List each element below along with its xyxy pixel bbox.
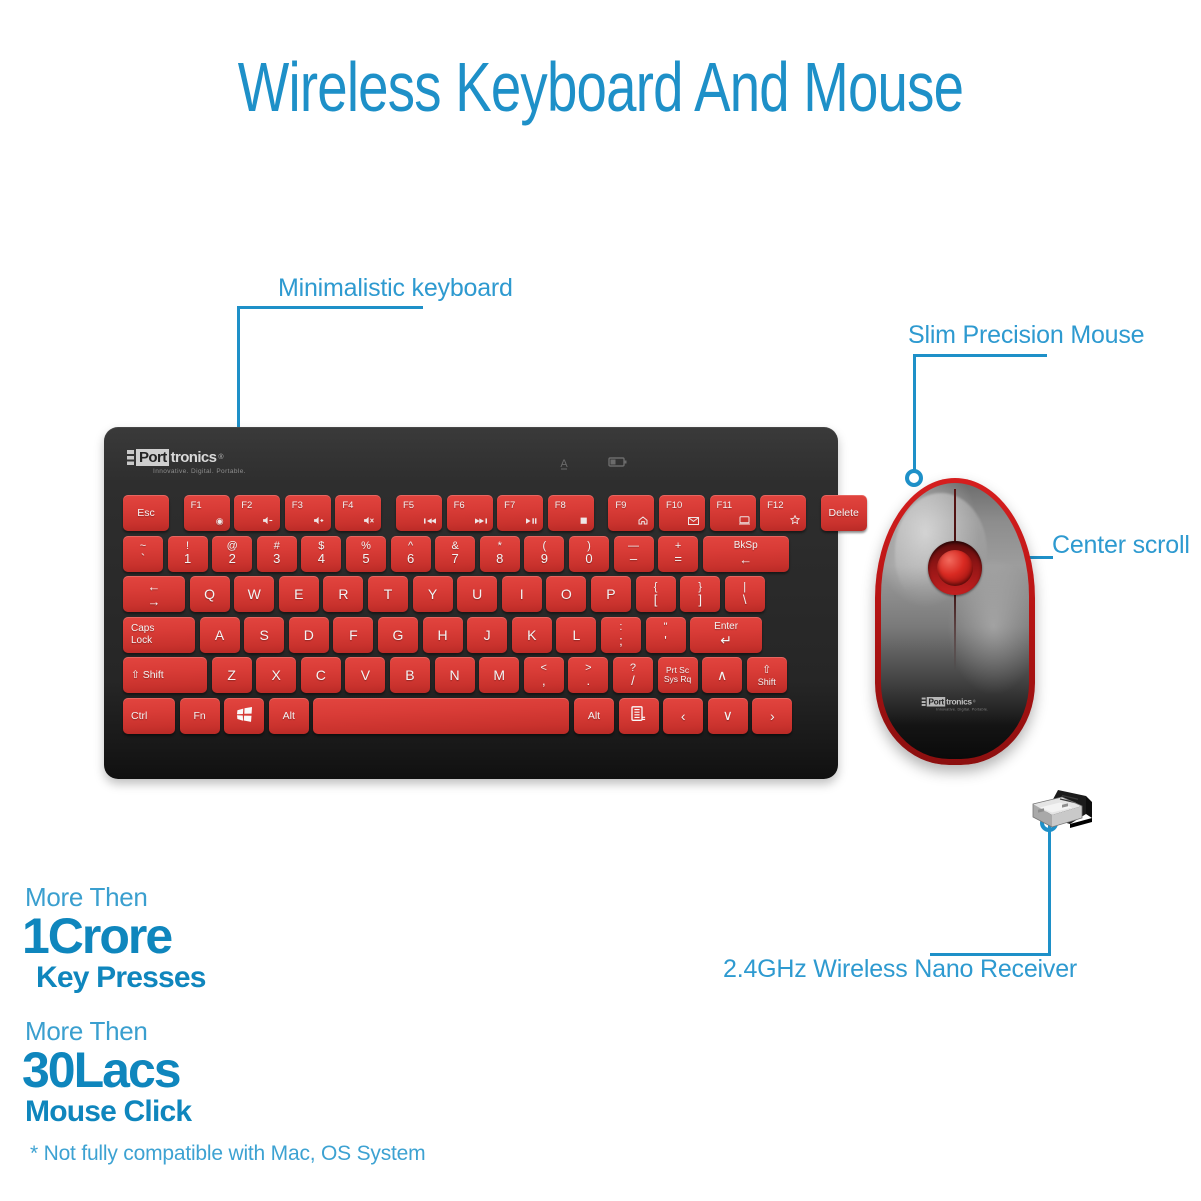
keyboard-row-home: CapsLock A S D F G H J K L :; "' Enter↵	[123, 617, 819, 653]
key-label-lower: 0	[585, 552, 592, 567]
key-label: Ctrl	[131, 710, 147, 722]
key-slash[interactable]: ?/	[613, 657, 653, 693]
key-label: P	[606, 586, 615, 602]
registered-mark-icon: ®	[218, 454, 223, 461]
callout-label-slim-precision-mouse: Slim Precision Mouse	[908, 321, 1144, 350]
key-label-lower: 6	[407, 552, 414, 567]
key-label: N	[450, 667, 460, 683]
key-u[interactable]: U	[457, 576, 497, 612]
key-n[interactable]: N	[435, 657, 475, 693]
key-arrow-up[interactable]: ∧	[702, 657, 742, 693]
key-k[interactable]: K	[512, 617, 552, 653]
computer-icon	[739, 516, 750, 527]
shift-arrow-icon: ⇧	[762, 664, 771, 677]
key-g[interactable]: G	[378, 617, 418, 653]
key-label-lower: \	[743, 593, 747, 608]
arrow-left-icon: ‹	[681, 708, 686, 724]
key-label: Esc	[137, 507, 155, 519]
key-label: A	[215, 627, 224, 643]
key-label-lower: .	[587, 674, 591, 689]
key-f8[interactable]: F8	[548, 495, 594, 531]
callout-label-center-scroll: Center scroll	[1052, 531, 1190, 560]
compatibility-footnote: * Not fully compatible with Mac, OS Syst…	[30, 1142, 425, 1166]
key-arrow-right[interactable]: ›	[752, 698, 792, 734]
key-5[interactable]: %5	[346, 536, 386, 572]
key-label-lower: '	[664, 634, 666, 649]
key-r[interactable]: R	[323, 576, 363, 612]
key-label: Z	[227, 667, 236, 683]
key-left-shift[interactable]: ⇧ Shift	[123, 657, 207, 693]
key-arrow-left[interactable]: ‹	[663, 698, 703, 734]
infographic-canvas: Wireless Keyboard And Mouse Minimalistic…	[0, 0, 1201, 1201]
key-i[interactable]: I	[502, 576, 542, 612]
key-e[interactable]: E	[279, 576, 319, 612]
svg-text:A: A	[560, 458, 568, 470]
key-f9[interactable]: F9	[608, 495, 654, 531]
favorites-star-icon	[790, 515, 800, 527]
key-0[interactable]: )0	[569, 536, 609, 572]
key-label: S	[260, 627, 269, 643]
brand-name-rest: tronics	[946, 698, 972, 706]
key-label: Fn	[193, 710, 205, 722]
mouse-brand-logo: Port tronics ® Innovative. Digital. Port…	[922, 697, 989, 712]
key-f2[interactable]: F2	[234, 495, 280, 531]
key-label: ⇧ Shift	[131, 669, 164, 681]
key-label: R	[338, 586, 348, 602]
key-bracket-left[interactable]: {[	[636, 576, 676, 612]
home-icon	[638, 516, 648, 527]
key-label: O	[561, 586, 572, 602]
arrow-right-icon: ›	[770, 708, 775, 724]
key-label: F12	[767, 500, 783, 511]
key-label: Shift	[758, 677, 776, 687]
key-label: Delete	[829, 507, 859, 519]
key-f1[interactable]: F1 ◉	[184, 495, 230, 531]
key-y[interactable]: Y	[413, 576, 453, 612]
key-label: V	[361, 667, 370, 683]
keyboard-row-zxcv: ⇧ Shift Z X C V B N M <, >. ?/ Prt ScSys…	[123, 657, 819, 693]
key-label: F7	[504, 500, 515, 511]
arrow-down-icon: ∨	[723, 707, 733, 724]
mouse-scroll-wheel[interactable]	[937, 550, 973, 586]
keyboard-brand-logo: Port tronics ® Innovative. Digital. Port…	[127, 449, 246, 475]
key-label: T	[384, 586, 393, 602]
key-w[interactable]: W	[234, 576, 274, 612]
key-label-lower: =	[674, 552, 682, 567]
key-label: I	[520, 586, 524, 602]
key-context-menu[interactable]	[619, 698, 659, 734]
key-label: C	[316, 667, 326, 683]
key-windows[interactable]	[224, 698, 264, 734]
key-tab[interactable]: ←→	[123, 576, 185, 612]
key-6[interactable]: ^6	[391, 536, 431, 572]
key-f3[interactable]: F3	[285, 495, 331, 531]
key-label: BkSp	[734, 540, 758, 552]
key-label: K	[527, 627, 536, 643]
mouse-product-image: Port tronics ® Innovative. Digital. Port…	[875, 478, 1035, 765]
key-h[interactable]: H	[423, 617, 463, 653]
page-title: Wireless Keyboard And Mouse	[132, 52, 1069, 122]
key-label-upper: "	[664, 621, 668, 633]
key-label-lower: –	[630, 552, 637, 567]
key-label-lower: 8	[496, 552, 503, 567]
brand-bars-icon	[127, 450, 134, 465]
key-bracket-right[interactable]: }]	[680, 576, 720, 612]
key-f[interactable]: F	[333, 617, 373, 653]
arrow-up-icon: ∧	[717, 667, 727, 684]
registered-mark-icon: ®	[973, 700, 976, 704]
key-8[interactable]: *8	[480, 536, 520, 572]
key-label: E	[294, 586, 303, 602]
stat-caption: Key Presses	[36, 962, 206, 994]
tab-left-arrow-icon: ←	[148, 579, 161, 594]
key-label: Enter	[714, 621, 738, 633]
key-label: F5	[403, 500, 414, 511]
enter-arrow-icon: ↵	[720, 632, 732, 648]
key-period[interactable]: >.	[568, 657, 608, 693]
key-label: Alt	[283, 710, 295, 722]
battery-led-icon	[608, 455, 624, 471]
key-label: X	[272, 667, 281, 683]
key-comma[interactable]: <,	[524, 657, 564, 693]
stat-caption: Mouse Click	[25, 1096, 191, 1128]
key-label-lower: 7	[452, 552, 459, 567]
next-track-icon	[475, 517, 487, 527]
key-label-lower: `	[141, 552, 145, 567]
key-label: F11	[717, 500, 733, 511]
callout-label-minimalistic-keyboard: Minimalistic keyboard	[278, 274, 513, 303]
tab-right-arrow-icon: →	[148, 594, 161, 609]
key-label-lower: /	[631, 674, 635, 689]
brand-name-rest: tronics	[171, 450, 217, 465]
key-semicolon[interactable]: :;	[601, 617, 641, 653]
callout-label-nano-receiver: 2.4GHz Wireless Nano Receiver	[723, 955, 1077, 984]
key-v[interactable]: V	[345, 657, 385, 693]
keyboard-row-qwerty: ←→ Q W E R T Y U I O P {[ }] |\	[123, 576, 819, 612]
stat-prefix: More Then	[25, 884, 206, 910]
key-label: Q	[204, 586, 215, 602]
key-f11[interactable]: F11	[710, 495, 756, 531]
stop-icon	[580, 517, 588, 527]
key-z[interactable]: Z	[212, 657, 252, 693]
key-label: G	[393, 627, 404, 643]
key-b[interactable]: B	[390, 657, 430, 693]
windows-icon	[236, 707, 253, 725]
key-label-lower: [	[654, 593, 658, 608]
key-minus[interactable]: —–	[614, 536, 654, 572]
menu-icon	[631, 706, 646, 725]
key-s[interactable]: S	[244, 617, 284, 653]
key-q[interactable]: Q	[190, 576, 230, 612]
caps-lock-led-icon: A	[556, 455, 572, 471]
key-label-lower: ;	[619, 634, 623, 649]
stat-prefix: More Then	[25, 1018, 191, 1044]
play-pause-icon	[526, 517, 537, 527]
key-label-lower: ,	[542, 674, 546, 689]
key-2[interactable]: @2	[212, 536, 252, 572]
key-alt-right[interactable]: Alt	[574, 698, 614, 734]
leader-line-mouse-horizontal	[913, 354, 1047, 357]
key-f7[interactable]: F7	[497, 495, 543, 531]
key-label: F2	[241, 500, 252, 511]
keyboard-row-numbers: ~` !1 @2 #3 $4 %5 ^6 &7 *8 (9 )0 —– += B…	[123, 536, 819, 572]
key-caps-lock[interactable]: CapsLock	[123, 617, 195, 653]
key-a[interactable]: A	[200, 617, 240, 653]
brand-name-bold: Port	[927, 697, 945, 707]
key-label-line2: Lock	[131, 635, 152, 647]
key-label: D	[304, 627, 314, 643]
key-fn[interactable]: Fn	[180, 698, 220, 734]
key-7[interactable]: &7	[435, 536, 475, 572]
key-c[interactable]: C	[301, 657, 341, 693]
key-label-lower: 4	[318, 552, 325, 567]
key-label-lower: 9	[541, 552, 548, 567]
key-label: H	[438, 627, 448, 643]
key-label-lower: 1	[184, 552, 191, 567]
key-label: F4	[342, 500, 353, 511]
key-4[interactable]: $4	[301, 536, 341, 572]
backspace-arrow-icon: ←	[739, 552, 752, 567]
mouse-scroll-ring[interactable]	[928, 541, 982, 595]
keyboard-indicator-leds: A	[556, 455, 624, 471]
usb-nano-receiver-image	[1000, 786, 1098, 848]
key-label: J	[484, 627, 491, 643]
key-label: F6	[454, 500, 465, 511]
leader-line-mouse-vertical	[913, 354, 916, 478]
key-print-screen[interactable]: Prt ScSys Rq	[658, 657, 698, 693]
key-alt-left[interactable]: Alt	[269, 698, 309, 734]
key-label-line1: Caps	[131, 623, 154, 635]
key-backtick[interactable]: ~`	[123, 536, 163, 572]
key-label: F1	[191, 500, 202, 511]
previous-track-icon	[424, 517, 436, 527]
key-label: M	[493, 667, 505, 683]
mail-icon	[688, 517, 699, 527]
key-label: B	[405, 667, 414, 683]
key-j[interactable]: J	[467, 617, 507, 653]
key-quote[interactable]: "'	[646, 617, 686, 653]
key-esc[interactable]: Esc	[123, 495, 169, 531]
stat-key-presses: More Then 1Crore Key Presses	[25, 884, 206, 994]
key-f6[interactable]: F6	[447, 495, 493, 531]
key-label-lower: ]	[698, 593, 702, 608]
volume-up-icon	[314, 516, 325, 527]
usb-receiver-icon	[1000, 786, 1098, 848]
volume-down-icon	[263, 516, 274, 527]
key-label: U	[472, 586, 482, 602]
key-equals[interactable]: +=	[658, 536, 698, 572]
key-d[interactable]: D	[289, 617, 329, 653]
key-label: W	[248, 586, 261, 602]
key-label: F	[349, 627, 358, 643]
brand-tagline: Innovative. Digital. Portable.	[936, 708, 988, 712]
keyboard-row-function: Esc F1 ◉ F2 F3	[123, 495, 819, 531]
key-label: Alt	[588, 710, 600, 722]
key-backspace[interactable]: BkSp←	[703, 536, 789, 572]
key-label: F3	[292, 500, 303, 511]
brand-bars-icon	[922, 698, 926, 706]
key-label-lower: 2	[229, 552, 236, 567]
leader-line-keyboard-horizontal	[237, 306, 423, 309]
key-label: F10	[666, 500, 682, 511]
key-label: L	[572, 627, 580, 643]
keyboard-product-image: Port tronics ® Innovative. Digital. Port…	[104, 427, 838, 779]
key-right-shift[interactable]: ⇧Shift	[747, 657, 787, 693]
key-label: F8	[555, 500, 566, 511]
key-m[interactable]: M	[479, 657, 519, 693]
key-label-line2: Sys Rq	[664, 675, 691, 685]
leader-line-keyboard-vertical	[237, 306, 240, 440]
key-t[interactable]: T	[368, 576, 408, 612]
key-label: F9	[615, 500, 626, 511]
key-delete[interactable]: Delete	[821, 495, 867, 531]
key-9[interactable]: (9	[524, 536, 564, 572]
key-label-lower: 5	[362, 552, 369, 567]
mute-icon	[364, 516, 375, 527]
key-arrow-down[interactable]: ∨	[708, 698, 748, 734]
key-3[interactable]: #3	[257, 536, 297, 572]
key-f4[interactable]: F4	[335, 495, 381, 531]
key-enter[interactable]: Enter↵	[690, 617, 762, 653]
keyboard-key-rows: Esc F1 ◉ F2 F3	[123, 495, 819, 739]
stat-mouse-clicks: More Then 30Lacs Mouse Click	[25, 1018, 191, 1128]
key-f12[interactable]: F12	[760, 495, 806, 531]
key-label: Y	[428, 586, 437, 602]
key-f5[interactable]: F5	[396, 495, 442, 531]
power-icon: ◉	[216, 516, 224, 527]
keyboard-row-modifiers: Ctrl Fn Alt Alt	[123, 698, 819, 734]
brand-name-bold: Port	[136, 449, 169, 466]
key-label-lower: 3	[273, 552, 280, 567]
stat-value: 1Crore	[22, 911, 206, 962]
key-space[interactable]	[313, 698, 569, 734]
key-ctrl[interactable]: Ctrl	[123, 698, 175, 734]
key-l[interactable]: L	[556, 617, 596, 653]
key-f10[interactable]: F10	[659, 495, 705, 531]
brand-tagline: Innovative. Digital. Portable.	[153, 468, 246, 475]
stat-value: 30Lacs	[22, 1045, 191, 1096]
key-x[interactable]: X	[256, 657, 296, 693]
key-backslash[interactable]: |\	[725, 576, 765, 612]
key-o[interactable]: O	[546, 576, 586, 612]
key-1[interactable]: !1	[168, 536, 208, 572]
key-label-upper: :	[619, 621, 622, 633]
key-p[interactable]: P	[591, 576, 631, 612]
mouse-body: Port tronics ® Innovative. Digital. Port…	[881, 483, 1029, 759]
